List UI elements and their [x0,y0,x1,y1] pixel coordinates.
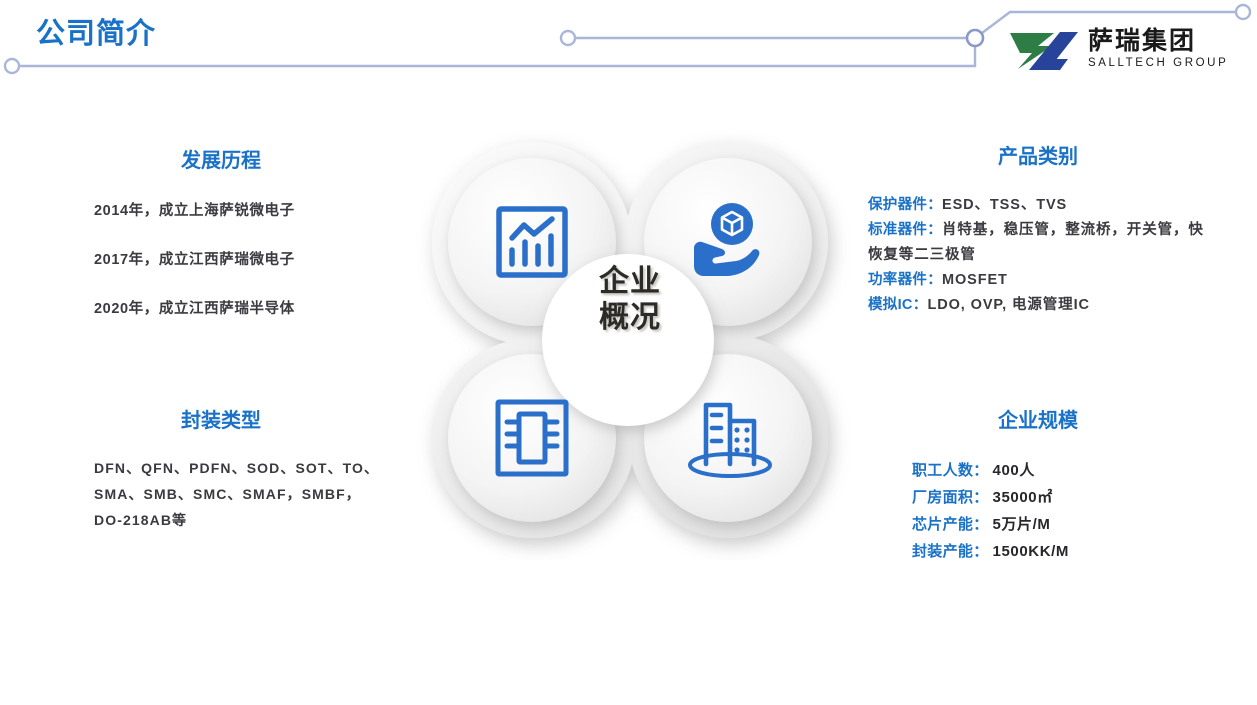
product-label: 标准器件： [868,222,942,238]
product-value: ESD、TSS、TVS [942,197,1067,213]
logo-name-cn: 萨瑞集团 [1088,27,1240,55]
logo-text: 萨瑞集团 SALLTECH GROUP [1088,27,1240,70]
salltech-logo-mark-icon [1008,29,1080,73]
history-item: 2017年，成立江西萨瑞微电子 [56,248,386,269]
company-logo: 萨瑞集团 SALLTECH GROUP [1008,27,1240,77]
section-product-categories: 产品类别 保护器件：ESD、TSS、TVS 标准器件：肖特基，稳压管，整流桥，开… [868,140,1208,318]
deco-node-right [1236,5,1250,19]
section-history: 发展历程 2014年，成立上海萨锐微电子 2017年，成立江西萨瑞微电子 202… [56,144,386,346]
section-history-heading: 发展历程 [56,144,386,173]
scale-label: 芯片产能： [912,511,989,538]
scale-label: 厂房面积： [912,484,989,511]
scale-row: 封装产能： 1500KK/M [868,538,1208,565]
section-product-heading: 产品类别 [868,140,1208,169]
product-row: 模拟IC：LDO, OVP, 电源管理IC [868,293,1208,318]
history-item: 2020年，成立江西萨瑞半导体 [56,297,386,318]
slide-root: 公司简介 萨瑞集团 SALLTECH GROU [0,0,1257,705]
deco-node-middle [561,31,575,45]
product-value: MOSFET [942,272,1008,288]
product-row: 保护器件：ESD、TSS、TVS [868,193,1208,218]
deco-node-junction [967,30,983,46]
center-circle [542,254,714,426]
page-header: 公司简介 萨瑞集团 SALLTECH GROU [0,0,1257,100]
product-value: LDO, OVP, 电源管理IC [928,297,1090,313]
product-row: 标准器件：肖特基，稳压管，整流桥，开关管，快恢复等二三极管 [868,218,1208,268]
product-label: 保护器件： [868,197,942,213]
section-scale-heading: 企业规模 [868,404,1208,433]
scale-label: 封装产能： [912,538,989,565]
scale-row: 厂房面积： 35000㎡ [868,484,1208,511]
scale-value: 5万片/M [993,511,1051,538]
scale-value: 35000㎡ [993,484,1053,511]
package-types-text: DFN、QFN、PDFN、SOD、SOT、TO、SMA、SMB、SMC、SMAF… [56,455,386,533]
product-row: 功率器件：MOSFET [868,268,1208,293]
history-item: 2014年，成立上海萨锐微电子 [56,199,386,220]
deco-node-left [5,59,19,73]
section-package-heading: 封装类型 [56,404,386,433]
scale-row: 职工人数： 400人 [868,457,1208,484]
scale-row: 芯片产能： 5万片/M [868,511,1208,538]
center-infographic: 企业 概况 [410,120,850,560]
scale-value: 1500KK/M [993,538,1070,565]
section-package-types: 封装类型 DFN、QFN、PDFN、SOD、SOT、TO、SMA、SMB、SMC… [56,404,386,533]
scale-value: 400人 [993,457,1035,484]
logo-name-en: SALLTECH GROUP [1088,56,1240,70]
scale-label: 职工人数： [912,457,989,484]
product-label: 模拟IC： [868,297,928,313]
section-company-scale: 企业规模 职工人数： 400人 厂房面积： 35000㎡ 芯片产能： 5万片/M… [868,404,1208,565]
infographic-graphic [410,120,850,560]
product-label: 功率器件： [868,272,942,288]
